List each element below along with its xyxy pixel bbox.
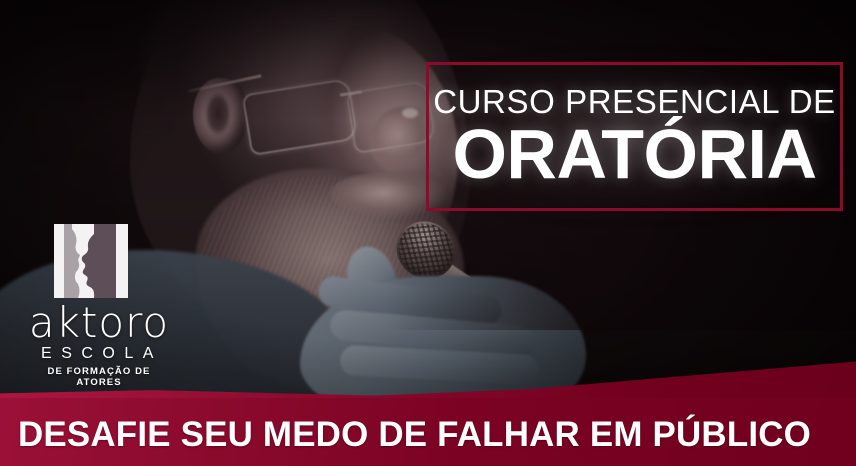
page-title: ORATÓRIA (452, 120, 816, 189)
logo-wordmark: aktoro (24, 304, 174, 343)
logo-tagline: DE FORMAÇÃO DE ATORES (24, 366, 174, 388)
aktoro-face-profile-icon (54, 224, 128, 298)
brand-logo: aktoro ESCOLA DE FORMAÇÃO DE ATORES (24, 224, 174, 388)
title-box: CURSO PRESENCIAL DE ORATÓRIA (426, 62, 843, 211)
logo-subtitle: ESCOLA (30, 345, 174, 363)
course-kicker: CURSO PRESENCIAL DE (433, 85, 836, 118)
callout-text: DESAFIE SEU MEDO DE FALHAR EM PÚBLICO (18, 417, 838, 452)
promo-banner: CURSO PRESENCIAL DE ORATÓRIA aktoro ESCO… (0, 0, 856, 466)
